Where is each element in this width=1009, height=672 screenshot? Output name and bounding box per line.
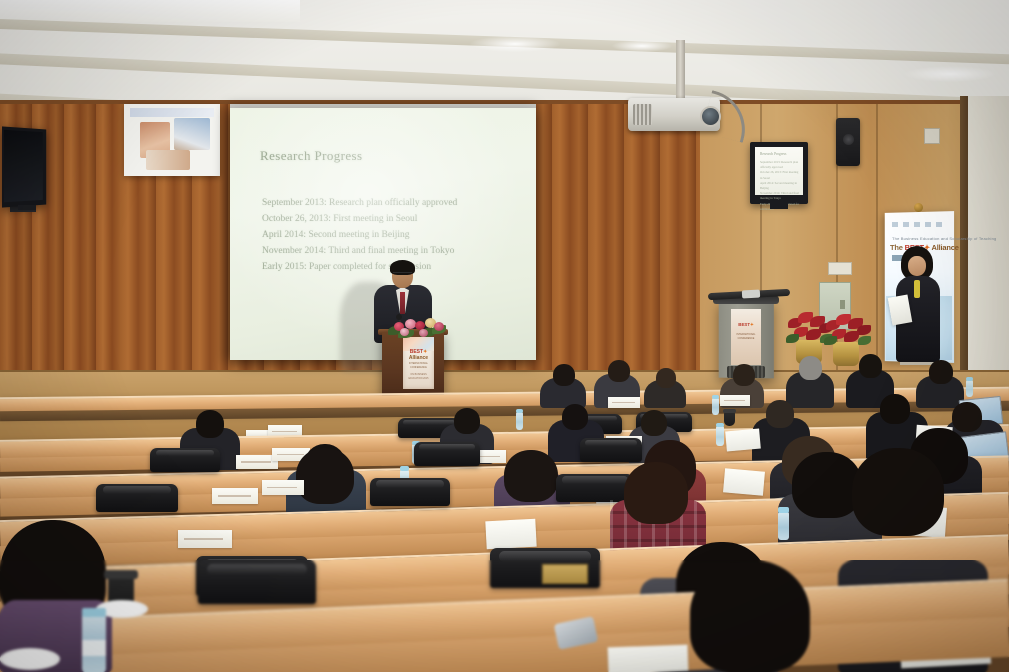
attendee-head bbox=[799, 356, 822, 380]
speaker-cone bbox=[843, 134, 854, 145]
attendee-head bbox=[562, 404, 588, 430]
slide-title: Research Progress bbox=[260, 148, 362, 164]
name-tent-card bbox=[178, 530, 232, 548]
banner-brand-the: The bbox=[890, 243, 905, 252]
attendee-head bbox=[859, 354, 882, 378]
wall-control-panel bbox=[924, 128, 940, 144]
attendee-hair bbox=[624, 462, 688, 524]
slide-bullet-list: September 2013: Research plan officially… bbox=[262, 195, 512, 275]
slide-bullet: Early 2015: Paper completed for submissi… bbox=[262, 259, 512, 275]
slide-bullet: April 2014: Second meeting in Beijing bbox=[262, 227, 512, 243]
side-lectern-rail-highlight bbox=[742, 290, 760, 299]
projector-vent bbox=[633, 104, 652, 125]
banner-brand-alliance: Alliance bbox=[930, 243, 959, 252]
podium-sign-line1: INTERNATIONAL CONFERENCE bbox=[405, 362, 432, 370]
chair bbox=[370, 478, 450, 506]
wall-outlet-plate bbox=[828, 262, 852, 275]
ceiling-light bbox=[470, 36, 560, 52]
handout-paper bbox=[608, 645, 689, 672]
tv-left-screen bbox=[4, 130, 43, 202]
slide-bullet: September 2013: Research plan officially… bbox=[262, 195, 512, 211]
poinsettia-bract bbox=[857, 325, 871, 335]
projector-mount-pole bbox=[676, 40, 685, 102]
attendee-hair bbox=[852, 448, 944, 536]
chair bbox=[198, 560, 316, 604]
handout-paper bbox=[723, 468, 765, 495]
name-tent-card bbox=[608, 397, 640, 408]
banner-top-knob bbox=[914, 203, 923, 212]
coffee-cup-lid bbox=[104, 570, 138, 579]
name-tent-card bbox=[212, 488, 258, 504]
water-bottle-cap bbox=[712, 395, 719, 399]
chair bbox=[580, 438, 642, 462]
saucer bbox=[0, 648, 60, 670]
name-tent-card bbox=[262, 480, 304, 495]
flower-bloom bbox=[419, 329, 428, 337]
podium-sign-line2: ON BUSINESS EDUCATION 2015 bbox=[405, 373, 432, 381]
attendee-head bbox=[553, 364, 575, 386]
handout-paper bbox=[485, 519, 536, 550]
water-bottle-label bbox=[82, 640, 106, 656]
side-lectern-sign-line1: INTERNATIONAL CONFERENCE bbox=[733, 333, 759, 341]
attendee-head bbox=[880, 394, 910, 424]
attendee-hair bbox=[504, 450, 558, 502]
podium-brand: BEST✦Alliance bbox=[405, 349, 432, 361]
flower-bloom bbox=[434, 322, 444, 331]
slide-bullet: November 2014: Third and final meeting i… bbox=[262, 243, 512, 259]
chair bbox=[96, 484, 178, 512]
water-bottle-cap bbox=[82, 608, 106, 617]
wall-poster-header bbox=[130, 108, 214, 117]
tv-left-stand bbox=[18, 205, 36, 210]
poinsettia-leaf bbox=[824, 336, 837, 345]
water-bottle bbox=[966, 380, 973, 397]
podium-brand-alliance: Alliance bbox=[409, 355, 428, 361]
chair bbox=[414, 442, 480, 466]
wall-poster-image bbox=[174, 118, 210, 150]
poinsettia-bract bbox=[844, 331, 859, 342]
chair bbox=[556, 474, 634, 502]
poinsettia-plant bbox=[824, 312, 872, 346]
water-bottle-cap bbox=[716, 423, 724, 427]
attendee-head bbox=[952, 402, 982, 432]
coffee-cup-lid bbox=[723, 409, 736, 413]
attendee-hair bbox=[296, 448, 354, 504]
water-bottle-cap bbox=[966, 377, 973, 381]
attendee-head bbox=[929, 360, 953, 384]
lecture-hall-scene: Research Progress September 2013: Resear… bbox=[0, 0, 1009, 672]
far-right-wall bbox=[968, 96, 1009, 396]
water-bottle bbox=[712, 398, 719, 415]
flower-bloom bbox=[400, 328, 409, 336]
banner-sponsor-logos bbox=[892, 222, 944, 227]
lectern-brand-best: BEST bbox=[738, 322, 750, 327]
slide-bullet: October 26, 2013: First meeting in Seoul bbox=[262, 211, 512, 227]
water-bottle-cap bbox=[400, 466, 409, 471]
handout-paper bbox=[725, 429, 761, 452]
attendee-head bbox=[641, 410, 667, 436]
poinsettia-leaf bbox=[858, 336, 871, 345]
monitor-line: October 26, 2013: First meeting in Seoul bbox=[760, 170, 800, 180]
attendee-head bbox=[608, 360, 630, 382]
monitor-line: November 2014: Third and final meeting i… bbox=[760, 191, 800, 201]
presenter-glasses-icon bbox=[393, 272, 412, 277]
electrical-panel-latch bbox=[840, 300, 845, 309]
coffee-cup bbox=[724, 412, 735, 426]
attendee-hair bbox=[690, 560, 810, 672]
standing-attendee-face bbox=[908, 256, 926, 276]
standing-attendee-lanyard bbox=[914, 280, 920, 298]
name-tent-card bbox=[720, 395, 750, 406]
presenter-tie bbox=[400, 292, 405, 314]
poinsettia-leaf bbox=[786, 334, 799, 343]
poinsettia-bract bbox=[806, 329, 821, 340]
water-bottle-cap bbox=[778, 507, 789, 513]
side-lectern-brand: BEST✦ bbox=[733, 322, 759, 328]
attendee-head bbox=[766, 400, 794, 428]
monitor-line: September 2013: Research plan officially… bbox=[760, 160, 800, 170]
attendee-head bbox=[733, 364, 755, 386]
attendee-head bbox=[196, 410, 224, 438]
monitor-line: April 2014: Second meeting in Beijing bbox=[760, 181, 800, 191]
confidence-monitor-title: Research Progress bbox=[760, 152, 786, 156]
water-bottle bbox=[778, 512, 789, 540]
ceiling-recess bbox=[0, 0, 300, 22]
ceiling-light bbox=[612, 40, 672, 52]
confidence-monitor-stand bbox=[770, 203, 788, 209]
wall-poster-image bbox=[146, 150, 190, 170]
water-bottle-cap bbox=[516, 409, 523, 413]
attendee-head bbox=[454, 408, 480, 434]
water-bottle bbox=[516, 412, 523, 430]
banner-superline: The Business Education and Scholarship o… bbox=[892, 236, 996, 241]
ceiling-light bbox=[905, 66, 995, 82]
lectern-brand-star-icon: ✦ bbox=[750, 322, 754, 327]
chair-nameplate bbox=[542, 564, 588, 584]
water-bottle bbox=[716, 426, 724, 446]
chair bbox=[150, 448, 220, 472]
attendee-head bbox=[656, 368, 676, 388]
podium-flower-arrangement bbox=[386, 316, 448, 340]
